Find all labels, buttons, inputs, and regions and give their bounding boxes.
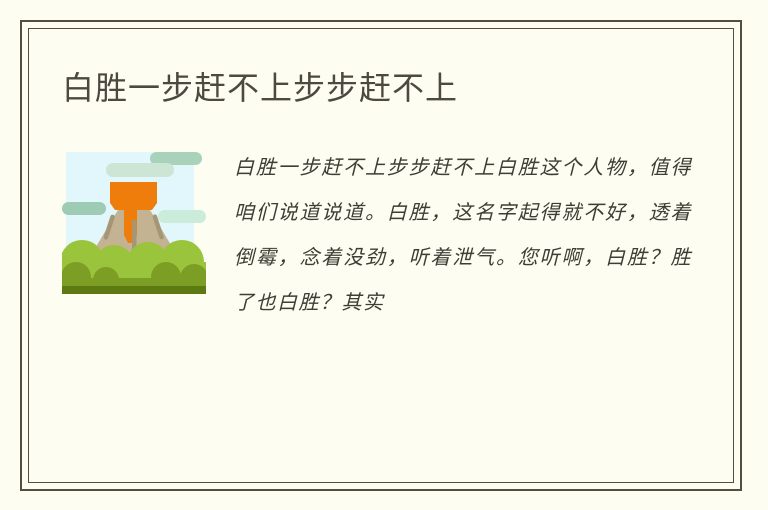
article-body-row: 白胜一步赶不上步步赶不上白胜这个人物，值得咱们说道说道。白胜，这名字起得就不好，… — [62, 145, 692, 325]
volcano-icon — [62, 150, 206, 302]
page-content: 白胜一步赶不上步步赶不上 — [28, 28, 734, 483]
article-paragraph: 白胜一步赶不上步步赶不上白胜这个人物，值得咱们说道说道。白胜，这名字起得就不好，… — [234, 145, 692, 325]
article-text: 白胜一步赶不上步步赶不上白胜这个人物，值得咱们说道说道。白胜，这名字起得就不好，… — [234, 145, 692, 325]
page-canvas: 白胜一步赶不上步步赶不上 — [0, 0, 768, 510]
page-title: 白胜一步赶不上步步赶不上 — [62, 68, 458, 108]
volcano-illustration — [62, 150, 206, 302]
